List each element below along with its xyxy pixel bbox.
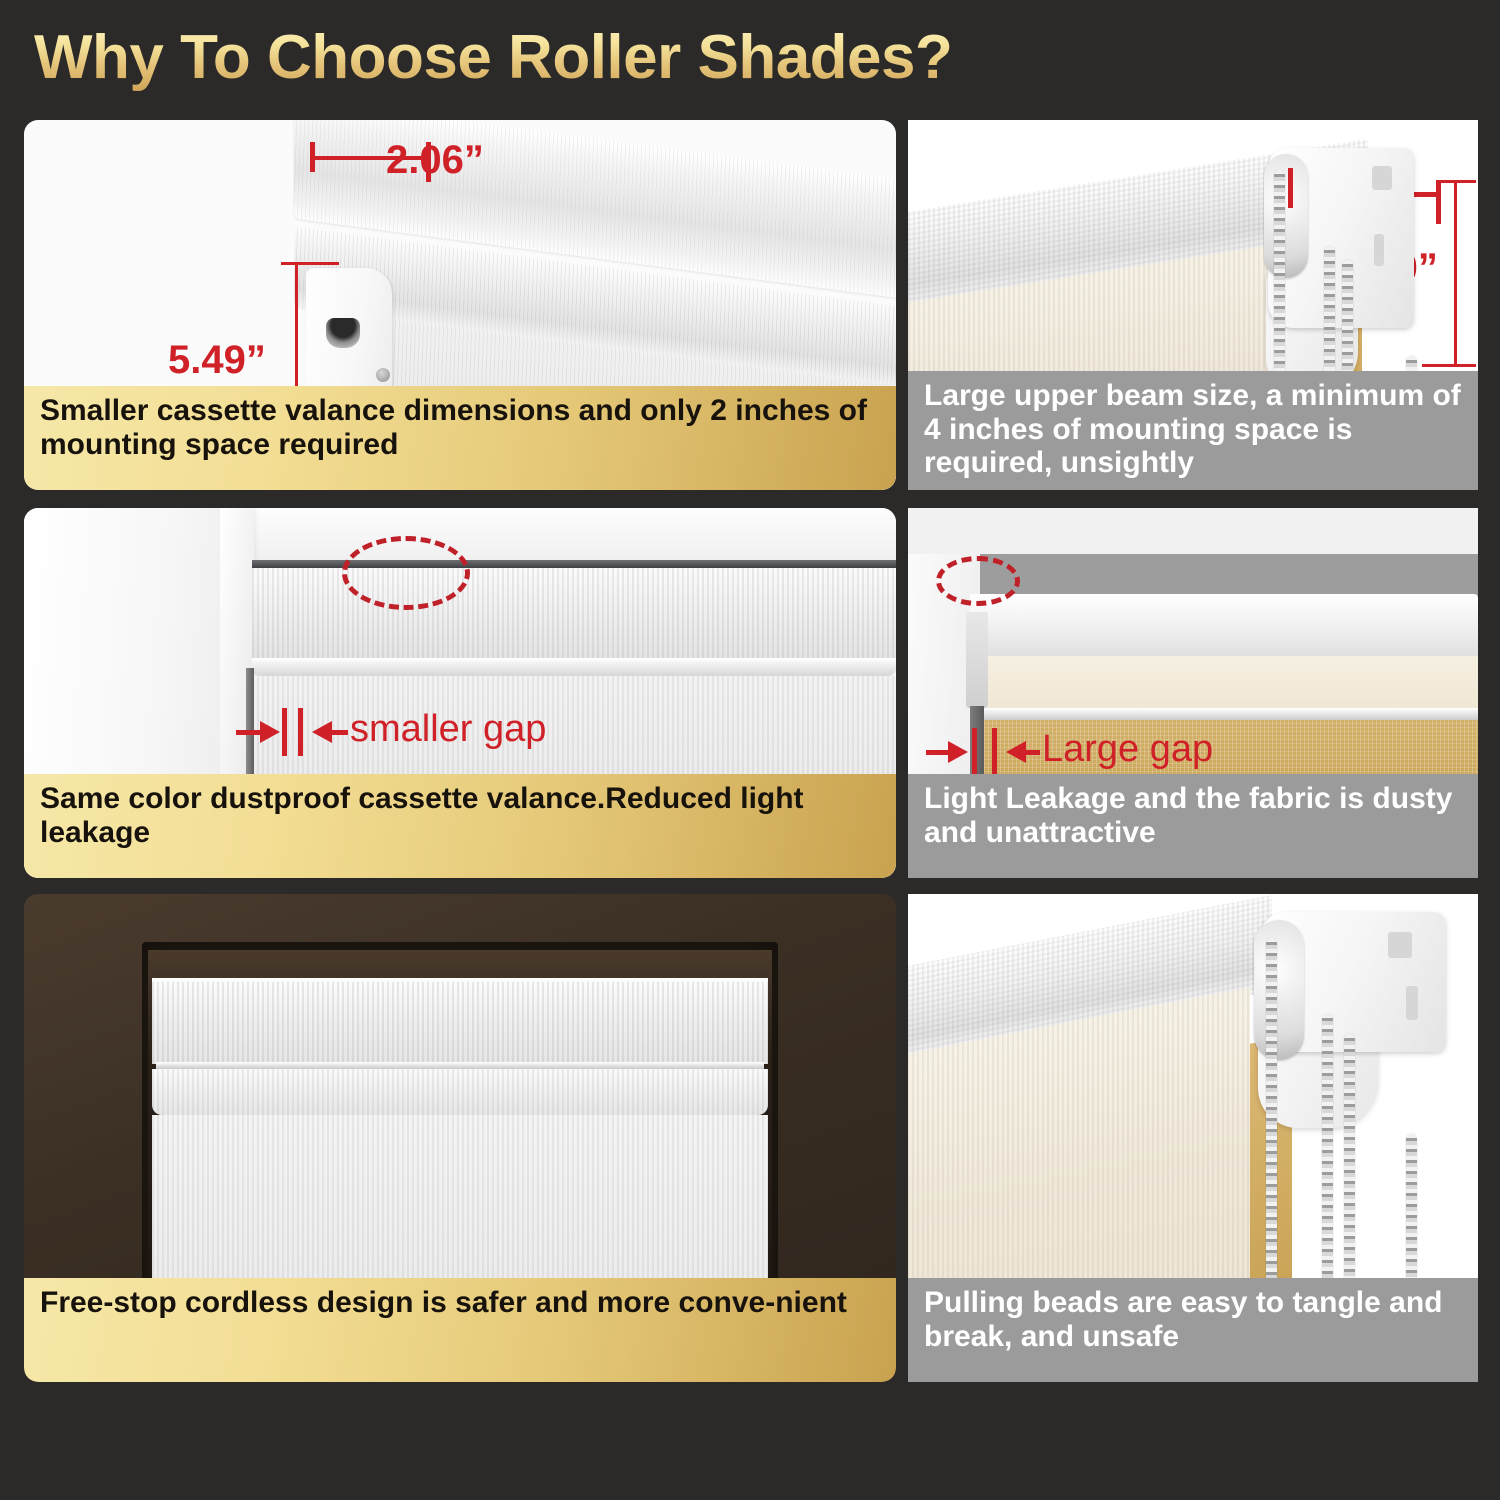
gap-arrow-left-icon [312, 721, 332, 743]
valance-lip [152, 1069, 768, 1115]
comparison-panel-6: Pulling beads are easy to tangle and bre… [908, 894, 1478, 1382]
gap-arrow-right-icon [948, 741, 968, 763]
highlight-ellipse-icon [936, 556, 1020, 606]
comparison-panel-4: Large gap Light Leakage and the fabric i… [908, 508, 1478, 878]
roller-end-disc [1254, 920, 1304, 1060]
beam-width-tick-right [1436, 182, 1441, 224]
valance-lip [252, 658, 896, 676]
beam-height-tick-top [1436, 180, 1476, 183]
panel-2-image: 4.00” 4.00” Large upper beam size, a min… [908, 120, 1478, 490]
fabric-upper [988, 656, 1478, 712]
roller-end-disc [1264, 154, 1308, 278]
width-dimension-tick-right [426, 142, 431, 182]
panel-1-image: 2.06” 5.49” Smaller cassette valance dim… [24, 120, 896, 490]
beam-height-dimension-line [1454, 180, 1457, 366]
gap-callout-label: Large gap [1042, 728, 1213, 771]
comparison-panel-5: Free-stop cordless design is safer and m… [24, 894, 896, 1382]
screw-icon [376, 368, 390, 382]
bracket-slot-2 [1406, 986, 1418, 1020]
panel-3-caption: Same color dustproof cassette valance.Re… [24, 774, 896, 878]
gap-tick-2 [298, 708, 303, 756]
cassette-valance [152, 982, 768, 1064]
gap-callout-label: smaller gap [350, 708, 546, 751]
window-header [220, 508, 896, 564]
gap-tick-1 [282, 708, 287, 756]
width-dimension-label: 2.06” [386, 138, 484, 183]
height-dimension-tick-top [281, 262, 339, 265]
width-dimension-tick-left [310, 142, 315, 172]
roller-rail [980, 708, 1478, 720]
comparison-panel-2: 4.00” 4.00” Large upper beam size, a min… [908, 120, 1478, 490]
panel-4-caption: Light Leakage and the fabric is dusty an… [908, 774, 1478, 878]
valance-slot [156, 1062, 764, 1069]
panel-2-caption: Large upper beam size, a minimum of 4 in… [908, 371, 1478, 490]
beam-height-tick-bottom [1422, 364, 1476, 367]
gap-arrow-stem-right [330, 730, 348, 735]
panel-5-caption: Free-stop cordless design is safer and m… [24, 1278, 896, 1382]
gap-tick-1 [972, 728, 977, 776]
panel-4-image: Large gap Light Leakage and the fabric i… [908, 508, 1478, 878]
gap-arrow-stem-left [236, 730, 262, 735]
comparison-panel-3: smaller gap Same color dustproof cassett… [24, 508, 896, 878]
gap-arrow-stem-left [926, 750, 950, 755]
gap-tick-2 [992, 728, 997, 776]
bracket-slot-1 [1372, 166, 1392, 190]
bracket-slot-2 [1374, 234, 1384, 266]
beam-width-tick-left [1288, 168, 1293, 208]
gap-arrow-right-icon [260, 721, 280, 743]
bracket-slot-1 [1388, 932, 1412, 958]
gap-arrow-left-icon [1006, 741, 1026, 763]
roller-tube [970, 594, 1478, 660]
bracket-fragment [966, 612, 988, 708]
page-title: Why To Choose Roller Shades? [34, 22, 952, 93]
panel-6-caption: Pulling beads are easy to tangle and bre… [908, 1278, 1478, 1382]
gap-arrow-stem-right [1024, 750, 1040, 755]
panel-5-image: Free-stop cordless design is safer and m… [24, 894, 896, 1382]
panel-1-caption: Smaller cassette valance dimensions and … [24, 386, 896, 490]
highlight-ellipse-icon [342, 536, 470, 610]
panel-3-image: smaller gap Same color dustproof cassett… [24, 508, 896, 878]
wall-upper [908, 508, 1478, 554]
title-bar: Why To Choose Roller Shades? [0, 0, 1500, 112]
panel-6-image: Pulling beads are easy to tangle and bre… [908, 894, 1478, 1382]
height-dimension-label: 5.49” [168, 338, 266, 383]
comparison-panel-1: 2.06” 5.49” Smaller cassette valance dim… [24, 120, 896, 490]
